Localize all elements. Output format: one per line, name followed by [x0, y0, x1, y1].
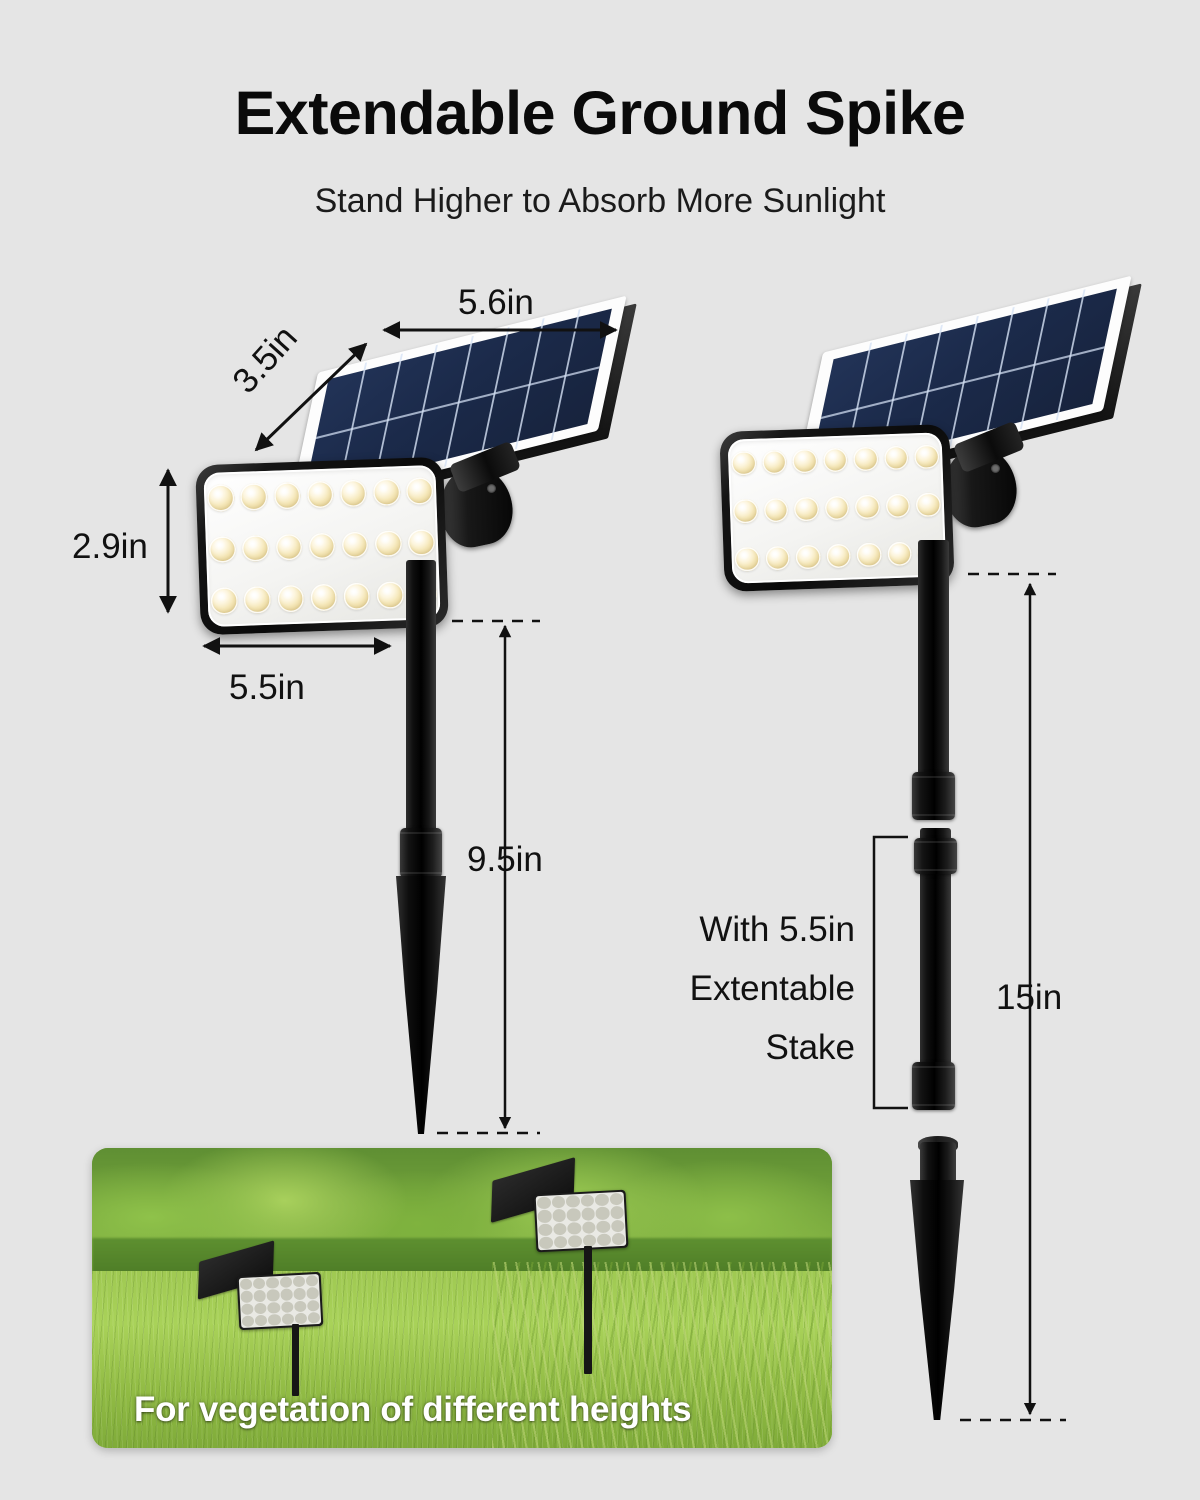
photo-light-tall-pole [584, 1246, 592, 1374]
dim-label-head-width: 5.5in [229, 668, 305, 708]
led-lens [765, 545, 790, 570]
infographic-canvas: Extendable Ground Spike Stand Higher to … [0, 0, 1200, 1500]
led-lens [306, 481, 333, 508]
led-lens [885, 493, 910, 518]
led-lens [916, 492, 941, 517]
right-spike-socket [920, 1142, 956, 1184]
led-lens [375, 530, 402, 557]
photo-caption: For vegetation of different heights [134, 1390, 691, 1430]
led-lens [795, 544, 820, 569]
led-lens [273, 482, 300, 509]
dim-label-head-height: 2.9in [72, 527, 148, 567]
led-lens [826, 543, 851, 568]
led-lens [853, 446, 878, 471]
led-lens [794, 496, 819, 521]
right-ground-spike [910, 1180, 964, 1420]
photo-light-tall-head [534, 1190, 629, 1253]
led-lens [824, 495, 849, 520]
led-lens [763, 497, 788, 522]
photo-light-short-head [237, 1272, 324, 1330]
dim-label-total-height-extended: 15in [996, 978, 1062, 1018]
right-pole-collar-2 [914, 838, 957, 874]
photo-light-tall-leds [536, 1192, 627, 1251]
led-lens [762, 450, 787, 475]
right-pole-collar-3 [912, 1062, 955, 1110]
led-lens [211, 587, 238, 614]
led-lens [340, 480, 367, 507]
led-lens [734, 547, 759, 572]
led-lens [343, 582, 370, 609]
annotation-line-2: Extentable [600, 959, 855, 1018]
led-lens [277, 585, 304, 612]
left-pole-collar [400, 828, 442, 878]
led-lens [209, 536, 236, 563]
led-lens [408, 529, 435, 556]
right-pole-collar-1 [912, 772, 955, 820]
led-lens [310, 584, 337, 611]
annotation-line-1: With 5.5in [600, 900, 855, 959]
led-lens [731, 451, 756, 476]
led-lens [376, 581, 403, 608]
led-lens [308, 532, 335, 559]
led-lens [207, 484, 234, 511]
led-lens [884, 445, 909, 470]
left-ground-spike [396, 876, 446, 1134]
led-lens [792, 448, 817, 473]
annotation-line-3: Stake [600, 1018, 855, 1077]
bracket-extendable-stake [874, 837, 908, 1108]
led-lens [242, 535, 269, 562]
led-lens [240, 483, 267, 510]
right-pole-segment-1 [918, 540, 949, 780]
page-title: Extendable Ground Spike [0, 78, 1200, 148]
led-lens [914, 444, 939, 469]
left-hinge-screw [487, 484, 496, 493]
led-lens [823, 447, 848, 472]
page-subtitle: Stand Higher to Absorb More Sunlight [0, 182, 1200, 221]
photo-light-short-leds [239, 1274, 322, 1328]
led-lens [373, 479, 400, 506]
photo-light-short-pole [292, 1324, 299, 1396]
right-hinge-screw [991, 464, 1000, 473]
left-pole-upper [406, 560, 436, 838]
dim-label-panel-width: 5.6in [458, 283, 534, 323]
led-lens [733, 499, 758, 524]
led-lens [244, 586, 271, 613]
lifestyle-photo: For vegetation of different heights [92, 1148, 832, 1448]
led-lens [887, 541, 912, 566]
dim-label-total-height-short: 9.5in [467, 840, 543, 880]
led-lens [855, 494, 880, 519]
led-lens [857, 542, 882, 567]
led-lens [341, 531, 368, 558]
led-lens [406, 478, 433, 505]
extendable-stake-annotation: With 5.5in Extentable Stake [600, 900, 855, 1077]
right-led-panel [728, 432, 947, 583]
led-lens [275, 533, 302, 560]
